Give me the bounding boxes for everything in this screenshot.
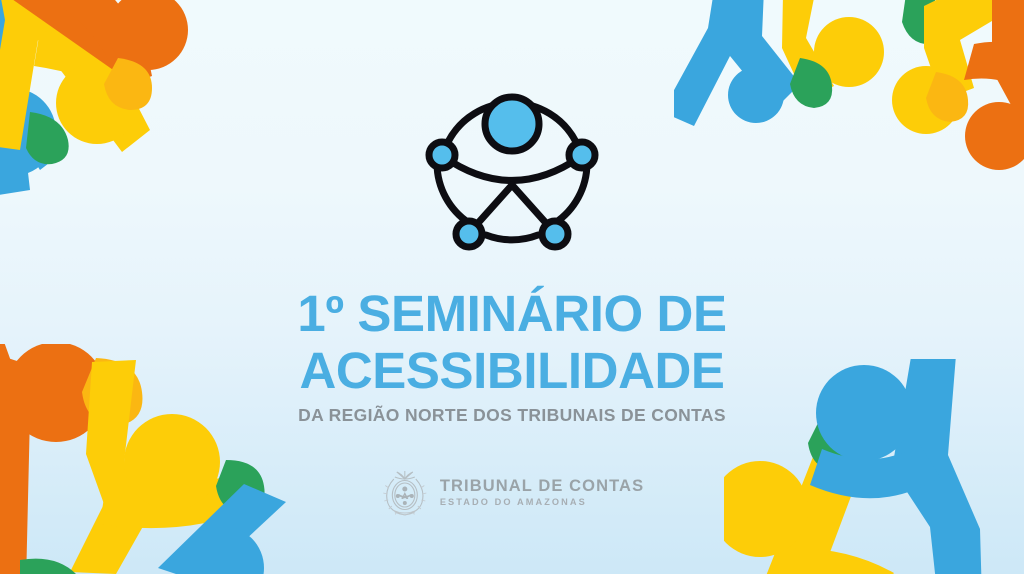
decoration-top-left-figures bbox=[0, 0, 300, 215]
event-headline: 1º SEMINÁRIO DE ACESSIBILIDADE DA REGIÃO… bbox=[0, 288, 1024, 426]
institution-state: ESTADO DO AMAZONAS bbox=[440, 496, 644, 509]
event-subtitle: DA REGIÃO NORTE DOS TRIBUNAIS DE CONTAS bbox=[0, 405, 1024, 426]
coat-of-arms-emblem bbox=[380, 468, 430, 518]
event-title-line-2: ACESSIBILIDADE bbox=[0, 345, 1024, 396]
institution-name: TRIBUNAL DE CONTAS bbox=[440, 477, 644, 496]
event-title-line-1: 1º SEMINÁRIO DE bbox=[0, 288, 1024, 339]
institution-logo: TRIBUNAL DE CONTAS ESTADO DO AMAZONAS bbox=[380, 468, 644, 518]
accessibility-eye-network-icon bbox=[422, 72, 602, 258]
presentation-slide: 1º SEMINÁRIO DE ACESSIBILIDADE DA REGIÃO… bbox=[0, 0, 1024, 574]
institution-text-block: TRIBUNAL DE CONTAS ESTADO DO AMAZONAS bbox=[440, 477, 644, 509]
decoration-top-right-figures bbox=[674, 0, 1024, 200]
